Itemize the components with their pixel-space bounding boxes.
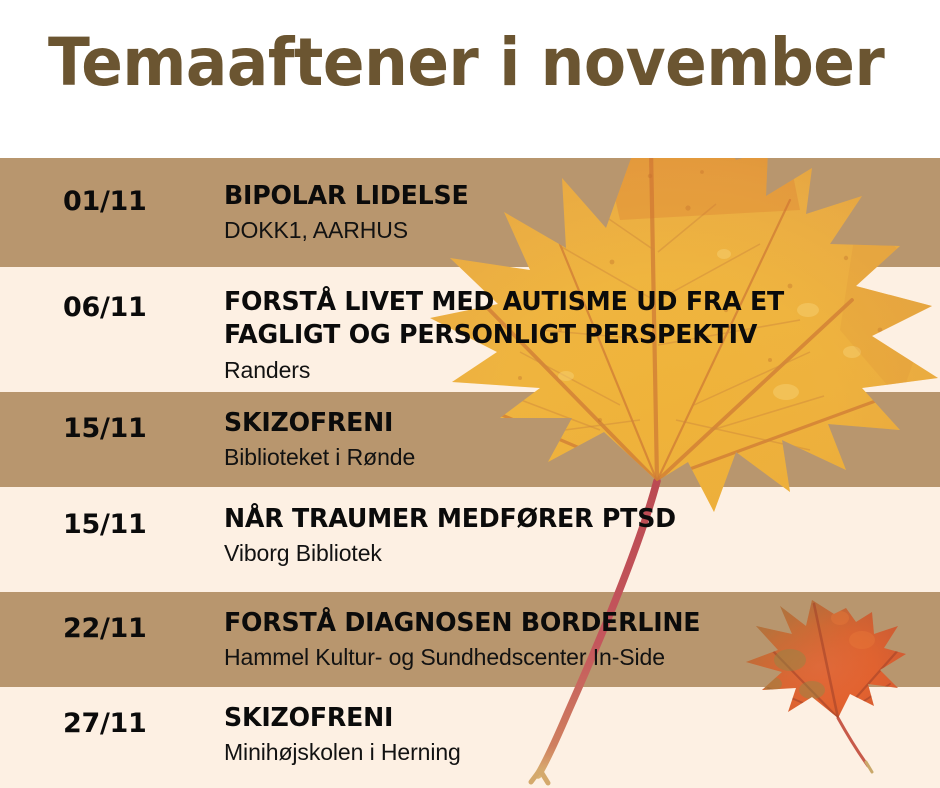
event-date: 15/11	[63, 509, 147, 540]
event-body: FORSTÅ LIVET MED AUTISME UD FRA ET FAGLI…	[224, 286, 932, 385]
event-body: BIPOLAR LIDELSE DOKK1, AARHUS	[224, 180, 932, 246]
event-title: SKIZOFRENI	[224, 407, 911, 440]
poster-canvas: Temaaftener i november 01/11 BIPOLAR LID…	[0, 0, 940, 788]
event-body: NÅR TRAUMER MEDFØRER PTSD Viborg Bibliot…	[224, 503, 932, 569]
title-band: Temaaftener i november	[0, 0, 940, 158]
event-date: 01/11	[63, 186, 147, 217]
page-title: Temaaftener i november	[48, 27, 884, 100]
event-row-5[interactable]: 22/11 FORSTÅ DIAGNOSEN BORDERLINE Hammel…	[0, 592, 940, 687]
event-row-4[interactable]: 15/11 NÅR TRAUMER MEDFØRER PTSD Viborg B…	[0, 487, 940, 592]
event-venue: Minihøjskolen i Herning	[224, 738, 932, 768]
event-venue: Biblioteket i Rønde	[224, 443, 932, 473]
event-venue: Hammel Kultur- og Sundhedscenter In-Side	[224, 643, 932, 673]
event-body: SKIZOFRENI Biblioteket i Rønde	[224, 407, 932, 473]
event-title: NÅR TRAUMER MEDFØRER PTSD	[224, 503, 911, 536]
event-date: 06/11	[63, 292, 147, 323]
event-title: FORSTÅ LIVET MED AUTISME UD FRA ET FAGLI…	[224, 286, 911, 353]
event-title: SKIZOFRENI	[224, 702, 911, 735]
event-body: FORSTÅ DIAGNOSEN BORDERLINE Hammel Kultu…	[224, 607, 932, 673]
event-date: 27/11	[63, 708, 147, 739]
event-venue: Viborg Bibliotek	[224, 539, 932, 569]
event-body: SKIZOFRENI Minihøjskolen i Herning	[224, 702, 932, 768]
event-title: BIPOLAR LIDELSE	[224, 180, 911, 213]
event-row-1[interactable]: 01/11 BIPOLAR LIDELSE DOKK1, AARHUS	[0, 158, 940, 267]
event-date: 22/11	[63, 613, 147, 644]
event-title: FORSTÅ DIAGNOSEN BORDERLINE	[224, 607, 911, 640]
event-venue: Randers	[224, 356, 932, 386]
event-date: 15/11	[63, 413, 147, 444]
event-row-3[interactable]: 15/11 SKIZOFRENI Biblioteket i Rønde	[0, 392, 940, 487]
event-row-6[interactable]: 27/11 SKIZOFRENI Minihøjskolen i Herning	[0, 687, 940, 788]
event-row-2[interactable]: 06/11 FORSTÅ LIVET MED AUTISME UD FRA ET…	[0, 267, 940, 392]
event-venue: DOKK1, AARHUS	[224, 216, 932, 246]
